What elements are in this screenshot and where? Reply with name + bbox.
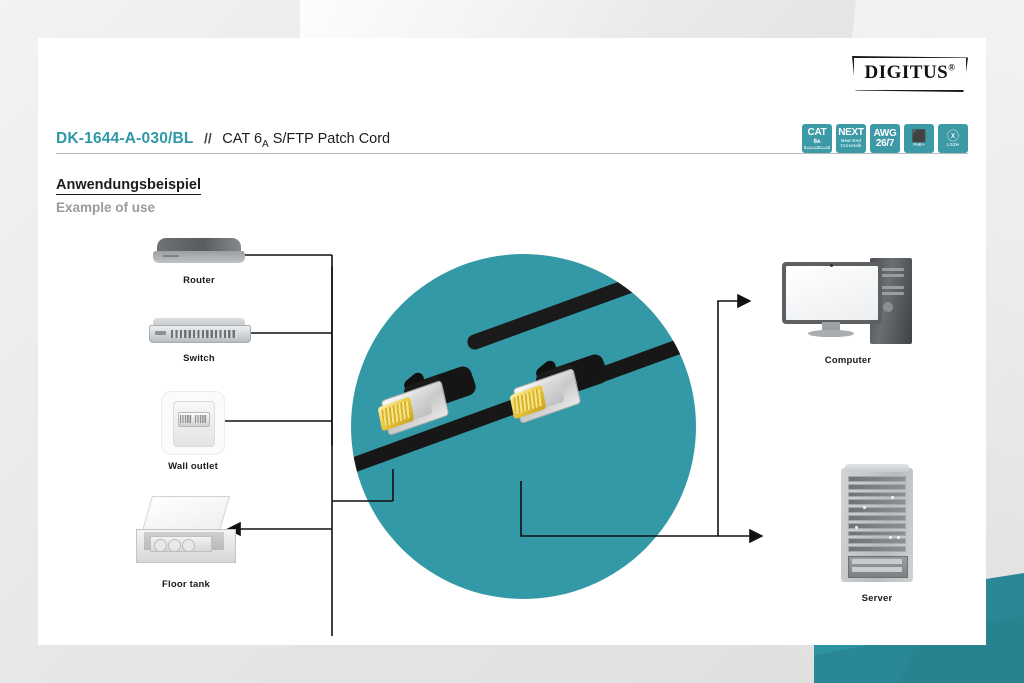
section-title-en: Example of use <box>56 200 201 215</box>
device-label: Router <box>144 275 254 286</box>
wall-outlet-icon <box>162 392 224 454</box>
badge-main-text: NEXT <box>838 128 863 138</box>
description-subscript: A <box>262 139 269 150</box>
next-badge: NEXT Near End Crosstalk <box>836 124 866 153</box>
device-wall-outlet: Wall outlet <box>134 392 252 472</box>
device-floor-tank: Floor tank <box>116 496 256 590</box>
no-smoke-icon: ⓧ <box>947 130 959 142</box>
badge-main-text: AWG <box>874 129 897 139</box>
diagram-stage: Router Switch Wall outlet Floor tank <box>38 216 986 636</box>
device-label: Switch <box>140 353 258 364</box>
badge-sub-text: 6ᴀ <box>814 139 821 145</box>
computer-icon <box>782 256 914 348</box>
badge-sub-lines: LSZH <box>947 143 959 148</box>
badge-sub-line2: Crosstalk <box>841 144 862 149</box>
device-label: Computer <box>773 355 923 366</box>
device-server: Server <box>803 464 951 604</box>
description-prefix: CAT 6 <box>222 131 262 147</box>
badge-sub-text: 26/7 <box>876 139 894 149</box>
section-title-de: Anwendungsbeispiel <box>56 177 201 195</box>
badge-sub-line1: PoE+ <box>913 143 925 148</box>
product-description: CAT 6A S/FTP Patch Cord <box>222 131 390 147</box>
device-label: Wall outlet <box>134 461 252 472</box>
logo-wordmark: DIGITUS® <box>852 62 968 84</box>
poe-badge: ⬛ PoE+ <box>904 124 934 153</box>
cat-6a-badge: CAT 6ᴀ ISO/IEC 11801 <box>802 124 832 153</box>
description-suffix: S/FTP Patch Cord <box>269 131 390 147</box>
awg-badge: AWG 26/7 <box>870 124 900 153</box>
logo-name: DIGITUS <box>865 62 949 83</box>
section-heading: Anwendungsbeispiel Example of use <box>56 176 201 215</box>
product-code: DK-1644-A-030/BL <box>56 130 194 147</box>
floor-tank-icon <box>134 496 238 572</box>
device-label: Floor tank <box>116 579 256 590</box>
server-icon <box>841 464 913 586</box>
datasheet-panel: DIGITUS® DK-1644-A-030/BL // CAT 6A S/FT… <box>38 38 986 645</box>
badge-sub-lines: Near End Crosstalk <box>841 139 862 148</box>
digitus-logo: DIGITUS® <box>852 56 968 92</box>
header-divider <box>56 153 968 154</box>
device-computer: Computer <box>773 256 923 366</box>
badge-sub-lines: PoE+ <box>913 143 925 148</box>
router-icon <box>153 238 245 268</box>
header: DIGITUS® <box>56 56 968 134</box>
poe-connector-icon: ⬛ <box>912 130 927 142</box>
title-separator: // <box>204 130 212 146</box>
device-switch: Switch <box>140 318 258 364</box>
feature-badges: CAT 6ᴀ ISO/IEC 11801 NEXT Near End Cross… <box>802 124 968 153</box>
badge-sub-line1: LSZH <box>947 143 959 148</box>
device-label: Server <box>803 593 951 604</box>
badge-main-text: CAT <box>808 128 827 138</box>
device-router: Router <box>144 238 254 286</box>
lszh-badge: ⓧ LSZH <box>938 124 968 153</box>
badge-tiny-text: ISO/IEC 11801 <box>804 146 831 149</box>
logo-registered: ® <box>948 63 955 73</box>
switch-icon <box>149 318 249 346</box>
